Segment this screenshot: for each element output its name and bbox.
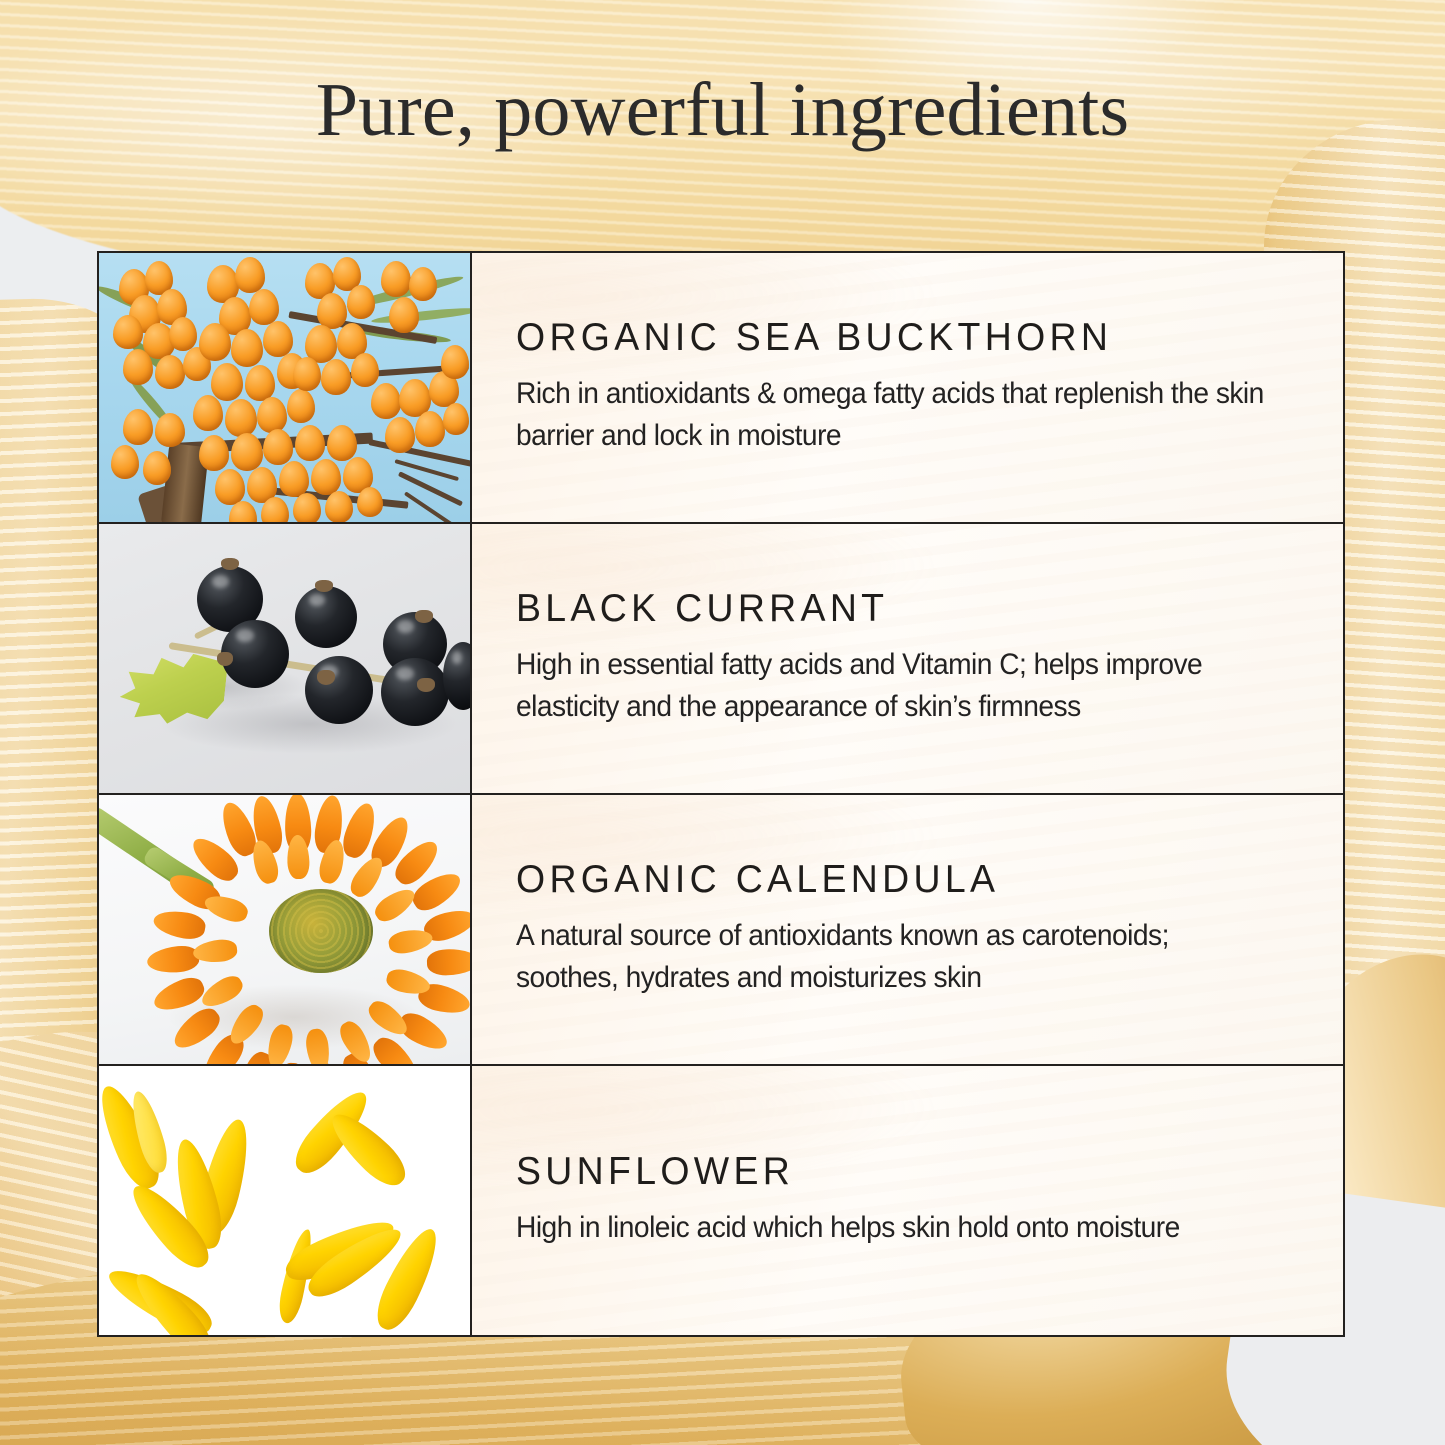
ingredient-text-cell: ORGANIC SEA BUCKTHORN Rich in antioxidan… — [472, 253, 1343, 522]
calendula-flower-photo — [99, 795, 470, 1064]
ingredient-description: A natural source of antioxidants known a… — [516, 915, 1266, 1000]
ingredient-text-cell: BLACK CURRANT High in essential fatty ac… — [472, 524, 1343, 793]
page-title: Pure, powerful ingredients — [0, 72, 1445, 148]
ingredient-name: SUNFLOWER — [516, 1152, 1270, 1193]
table-row: SUNFLOWER High in linoleic acid which he… — [99, 1066, 1343, 1335]
cell-sheen — [472, 1066, 1343, 1335]
ingredient-image-cell — [99, 524, 472, 793]
sunflower-petals-photo — [99, 1066, 470, 1335]
ingredient-image-cell — [99, 795, 472, 1064]
ingredient-text-cell: ORGANIC CALENDULA A natural source of an… — [472, 795, 1343, 1064]
ingredient-name: ORGANIC CALENDULA — [516, 860, 1270, 901]
table-row: BLACK CURRANT High in essential fatty ac… — [99, 524, 1343, 795]
ingredient-text-cell: SUNFLOWER High in linoleic acid which he… — [472, 1066, 1343, 1335]
table-row: ORGANIC SEA BUCKTHORN Rich in antioxidan… — [99, 253, 1343, 524]
ingredient-image-cell — [99, 253, 472, 522]
ingredient-description: High in essential fatty acids and Vitami… — [516, 644, 1266, 729]
ingredient-description: Rich in antioxidants & omega fatty acids… — [516, 373, 1266, 458]
ingredients-table: ORGANIC SEA BUCKTHORN Rich in antioxidan… — [97, 251, 1345, 1337]
ingredient-image-cell — [99, 1066, 472, 1335]
black-currant-berries-photo — [99, 524, 470, 793]
sea-buckthorn-berries-photo — [99, 253, 470, 522]
ingredient-name: ORGANIC SEA BUCKTHORN — [516, 318, 1270, 359]
table-row: ORGANIC CALENDULA A natural source of an… — [99, 795, 1343, 1066]
ingredient-name: BLACK CURRANT — [516, 589, 1270, 630]
ingredient-description: High in linoleic acid which helps skin h… — [516, 1207, 1266, 1249]
